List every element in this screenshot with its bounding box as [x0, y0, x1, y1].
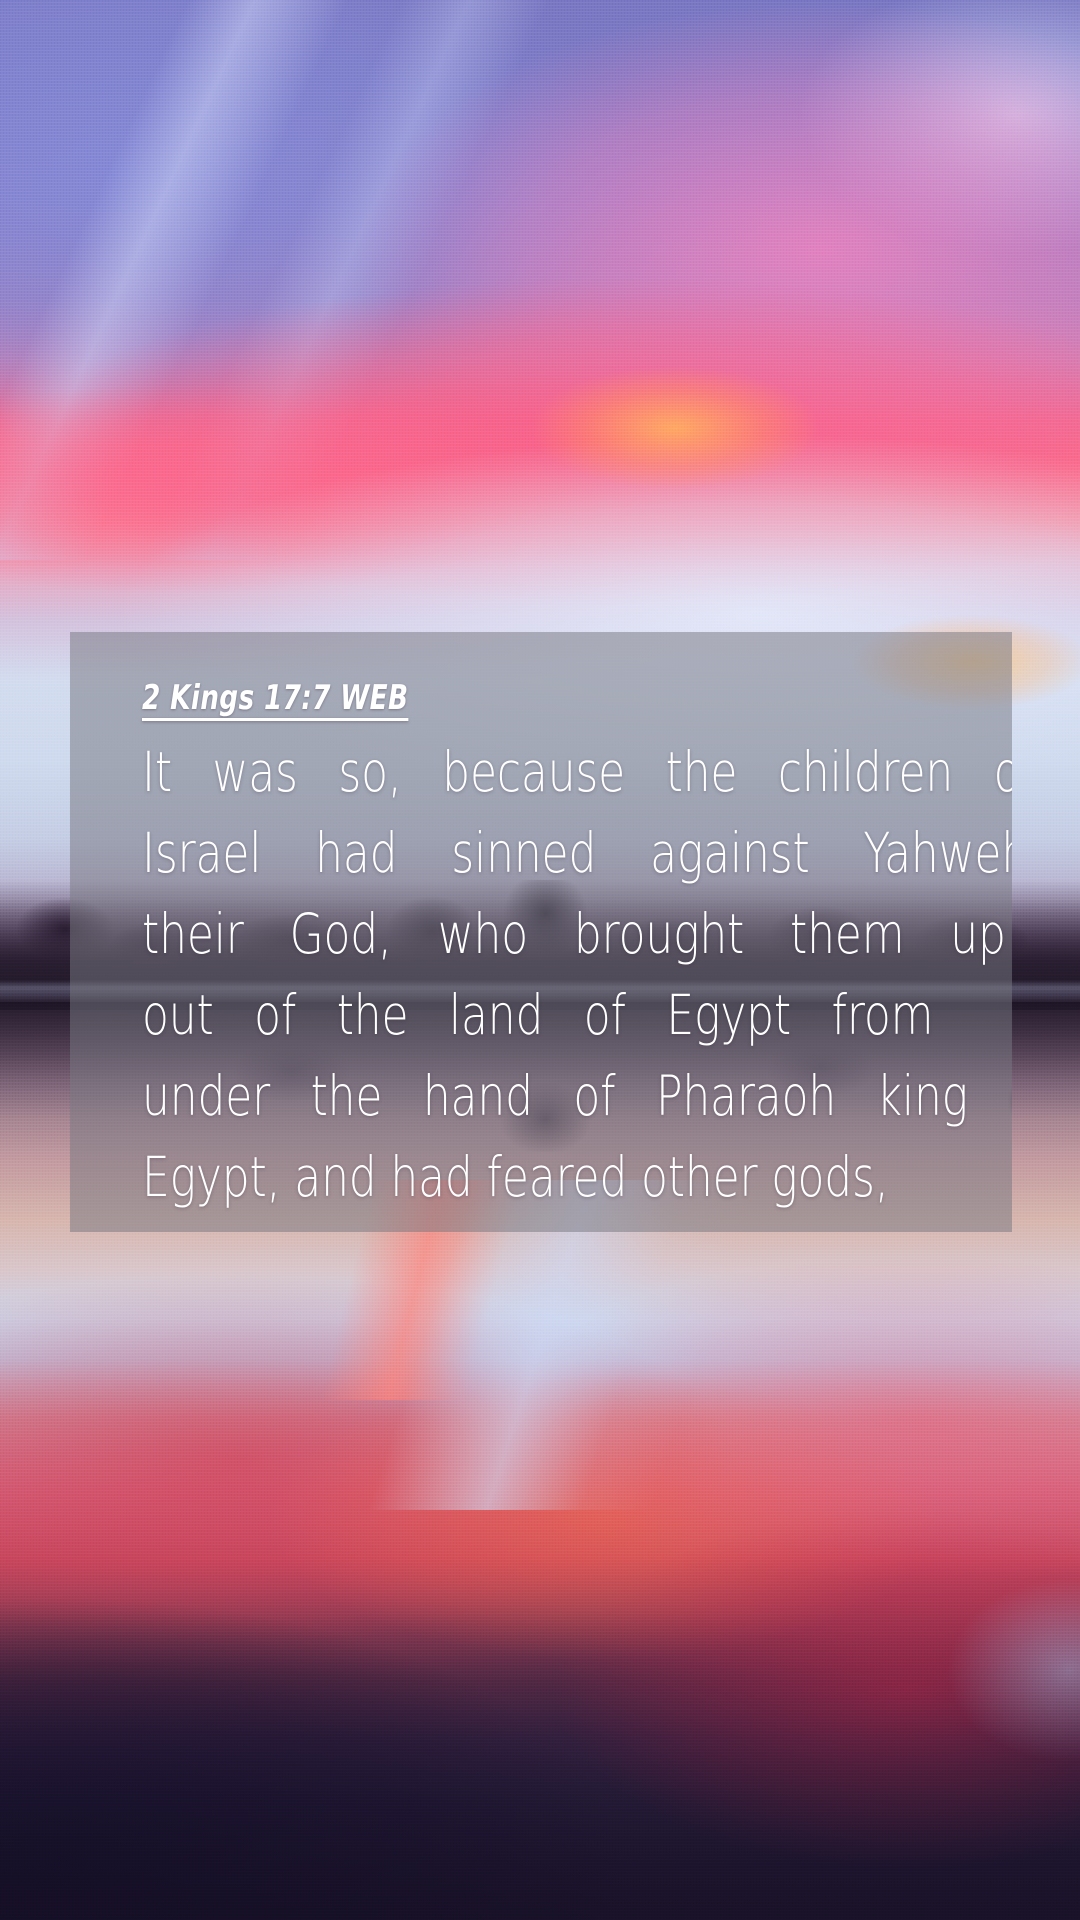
verse-line: their God, who brought them up [142, 894, 940, 975]
verse-line: under the hand of Pharaoh king of [142, 1056, 940, 1137]
verse-line: It was so, because the children of [142, 732, 940, 813]
verse-line: Israel had sinned against Yahweh [142, 813, 940, 894]
verse-overlay-card: 2 Kings 17:7 WEB It was so, because the … [70, 632, 1012, 1232]
verse-line: out of the land of Egypt from [142, 975, 940, 1056]
verse-wallpaper: 2 Kings 17:7 WEB It was so, because the … [0, 0, 1080, 1920]
verse-reference-heading: 2 Kings 17:7 WEB [142, 678, 408, 718]
verse-body-text: It was so, because the children of Israe… [142, 732, 940, 1232]
cloud-cirrus-streaks [0, 0, 1080, 560]
verse-line-last: Egypt, and had feared other gods, [142, 1137, 940, 1218]
